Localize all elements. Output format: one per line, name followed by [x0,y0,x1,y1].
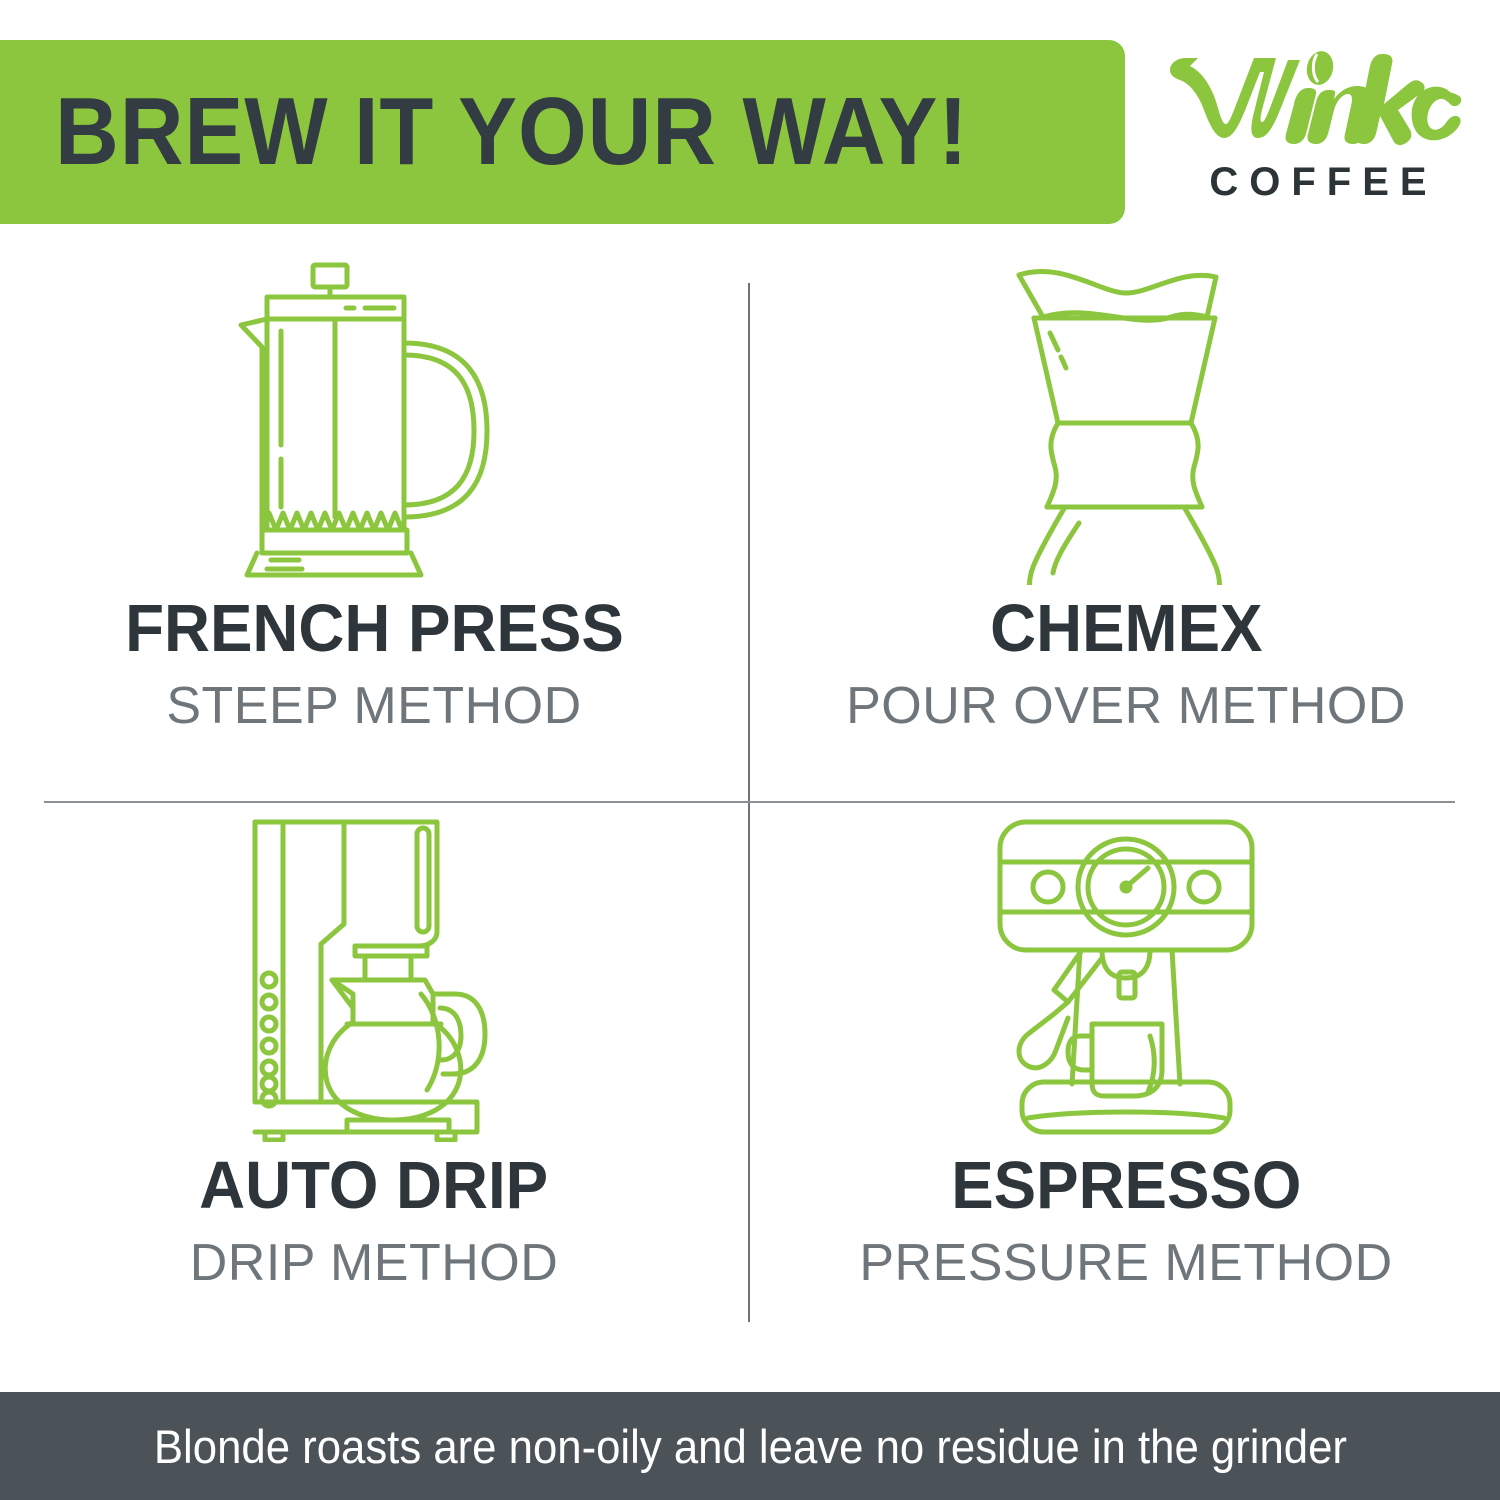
espresso-machine-icon [976,802,1276,1152]
method-title: FRENCH PRESS [125,595,624,662]
method-title: AUTO DRIP [200,1152,549,1219]
method-title: ESPRESSO [951,1152,1301,1219]
page-title: BREW IT YOUR WAY! [55,84,969,180]
method-title: CHEMEX [990,595,1262,662]
method-card-french-press[interactable]: FRENCH PRESS STEEP METHOD [0,245,748,790]
brand-sub-label: COFFEE [1168,160,1468,205]
method-subtitle: DRIP METHOD [190,1237,559,1289]
method-card-auto-drip[interactable]: AUTO DRIP DRIP METHOD [0,802,748,1347]
method-subtitle: POUR OVER METHOD [846,680,1406,732]
footer-text: Blonde roasts are non-oily and leave no … [153,1419,1346,1474]
header-banner: BREW IT YOUR WAY! [0,40,1125,224]
method-card-espresso[interactable]: ESPRESSO PRESSURE METHOD [752,802,1500,1347]
footer-bar: Blonde roasts are non-oily and leave no … [0,1392,1500,1500]
wink-wordmark-icon [1168,42,1468,157]
auto-drip-coffee-maker-icon [237,802,512,1152]
method-card-chemex[interactable]: CHEMEX POUR OVER METHOD [752,245,1500,790]
french-press-icon [229,245,519,595]
brand-logo: COFFEE [1168,42,1468,220]
method-subtitle: PRESSURE METHOD [859,1237,1392,1289]
infographic-page: BREW IT YOUR WAY! [0,0,1500,1500]
chemex-icon [1001,245,1251,595]
method-subtitle: STEEP METHOD [166,680,581,732]
brew-methods-grid: FRENCH PRESS STEEP METHOD [0,245,1500,1335]
